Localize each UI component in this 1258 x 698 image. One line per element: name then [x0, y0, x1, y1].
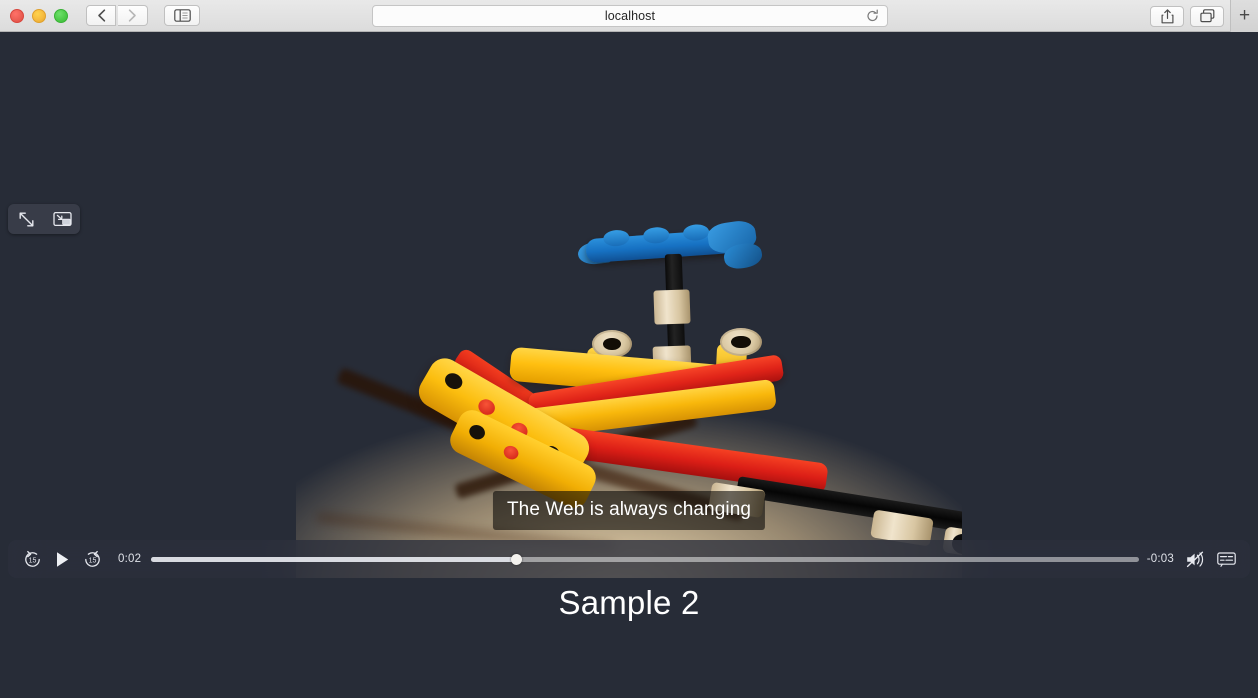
share-button[interactable] [1150, 6, 1184, 27]
new-tab-button[interactable]: + [1230, 0, 1258, 32]
play-button[interactable] [50, 547, 74, 571]
muted-speaker-icon [1186, 551, 1207, 568]
toolbar-right-group: + [1150, 0, 1258, 32]
maximize-window-button[interactable] [54, 9, 68, 23]
page-title: Sample 2 [0, 584, 1258, 622]
minimize-window-button[interactable] [32, 9, 46, 23]
fullscreen-icon [18, 211, 35, 228]
back-button[interactable] [86, 5, 116, 26]
played-range [151, 557, 516, 562]
video-player[interactable]: The Web is always changing [296, 198, 962, 578]
closed-captions-button[interactable] [1214, 547, 1238, 571]
chevron-right-icon [128, 9, 137, 22]
chevron-left-icon [97, 9, 106, 22]
share-icon [1161, 9, 1174, 24]
remaining-time-label: -0:03 [1147, 553, 1174, 565]
skip-back-15-button[interactable]: 15 [20, 547, 44, 571]
svg-text:15: 15 [88, 557, 96, 564]
close-window-button[interactable] [10, 9, 24, 23]
video-caption: The Web is always changing [493, 491, 765, 530]
picture-in-picture-button[interactable] [51, 209, 73, 229]
fullscreen-button[interactable] [15, 209, 37, 229]
seek-slider[interactable] [151, 557, 1139, 562]
seek-thumb[interactable] [511, 554, 522, 565]
page-content: The Web is always changing [0, 32, 1258, 698]
sidebar-toggle-button[interactable] [164, 5, 200, 26]
sidebar-icon [174, 9, 191, 22]
forward-button[interactable] [118, 5, 148, 26]
address-bar[interactable]: localhost [372, 5, 888, 27]
closed-captions-icon [1217, 552, 1236, 567]
skip-forward-15-icon: 15 [83, 550, 102, 569]
nav-button-group [86, 5, 148, 26]
lego-part [720, 328, 762, 356]
current-time-label: 0:02 [118, 553, 141, 565]
reload-icon[interactable] [866, 10, 879, 23]
mute-button[interactable] [1184, 547, 1208, 571]
svg-text:15: 15 [28, 557, 36, 564]
browser-toolbar: localhost [0, 0, 1258, 32]
video-overlay-controls [8, 204, 80, 234]
window-traffic-lights [10, 9, 68, 23]
picture-in-picture-icon [53, 211, 72, 227]
address-bar-text: localhost [605, 9, 655, 23]
lego-part [653, 289, 690, 324]
video-control-bar: 15 15 0:02 -0:03 [8, 540, 1250, 578]
skip-forward-15-button[interactable]: 15 [80, 547, 104, 571]
play-icon [55, 551, 70, 568]
tab-overview-icon [1200, 9, 1215, 23]
skip-back-15-icon: 15 [23, 550, 42, 569]
tab-overview-button[interactable] [1190, 6, 1224, 27]
